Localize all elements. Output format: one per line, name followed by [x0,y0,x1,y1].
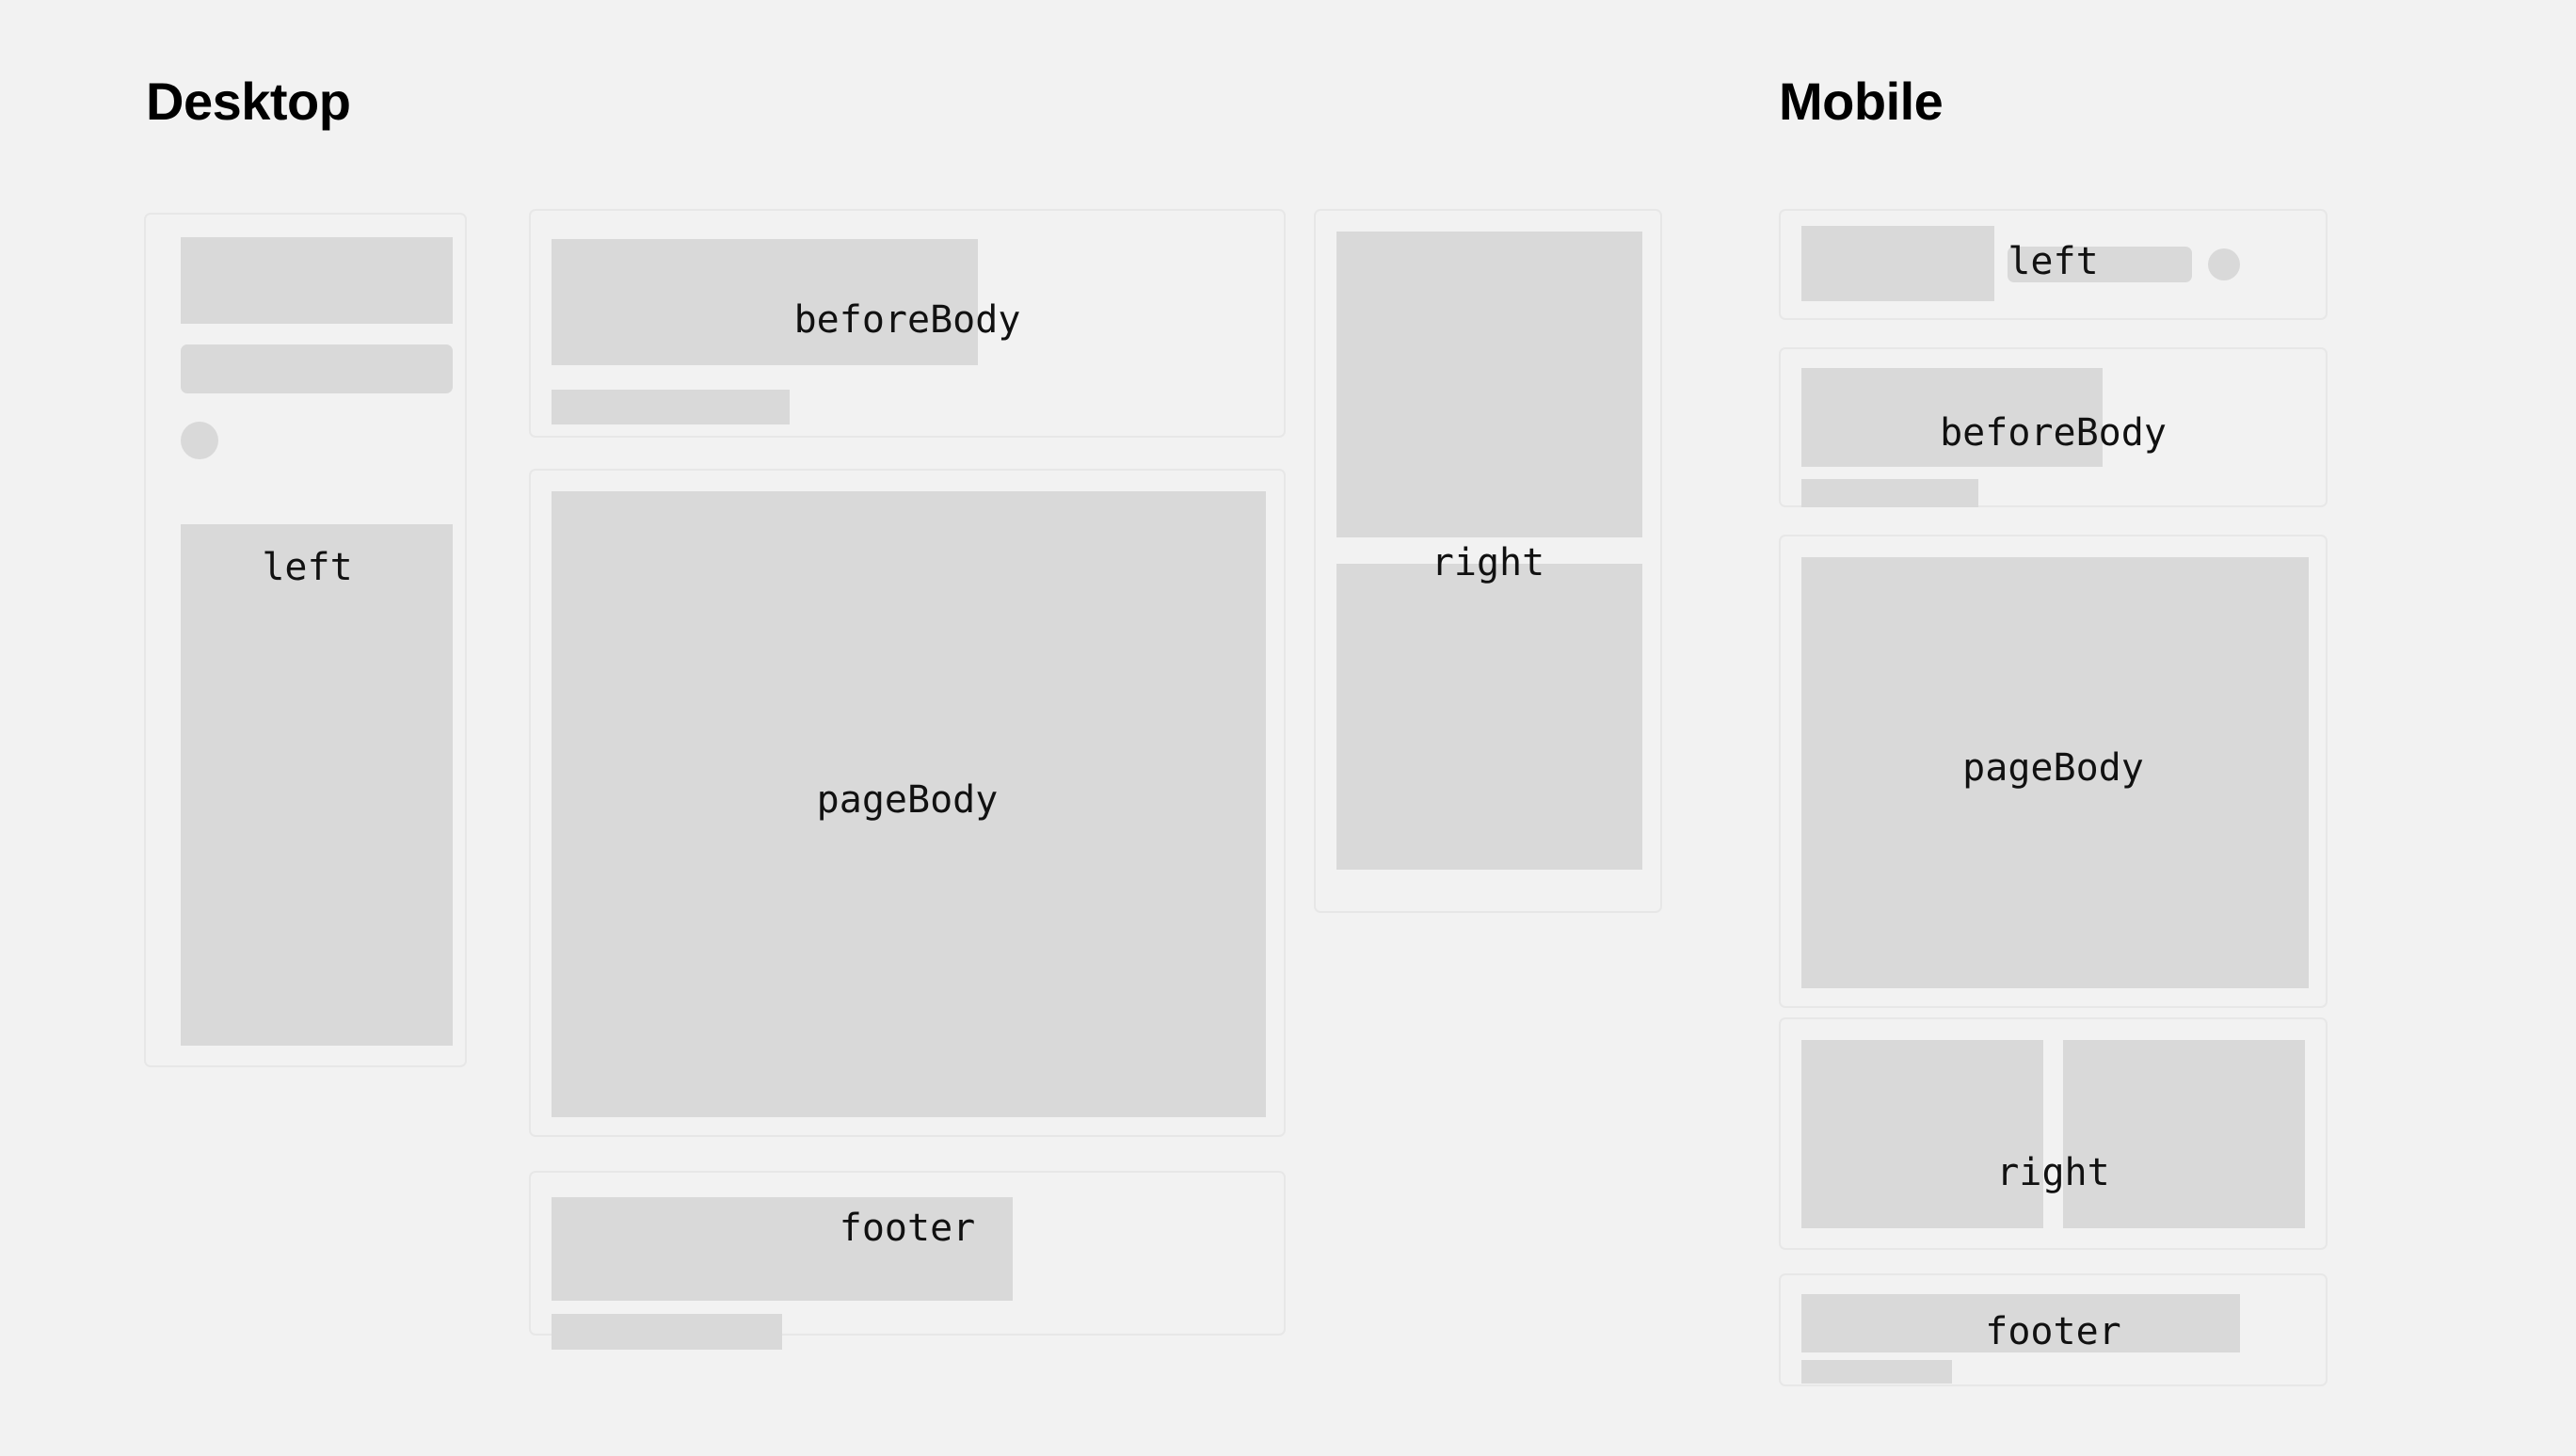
sidebar-block-bar [181,344,453,393]
mobile-right-panel[interactable] [1779,1017,2328,1250]
mobile-left-slot-label: left [1779,243,2328,280]
right-block-bottom [1336,564,1642,870]
sidebar-block-hero [181,237,453,324]
desktop-pagebody-slot-label: pageBody [529,781,1286,819]
desktop-beforebody-slot-label-overlay: beforeBody [529,301,1286,339]
desktop-footer-slot-label: footer [529,1209,1286,1247]
wireframe-canvas: Desktop left beforeBody beforeBody pageB… [0,0,2576,1456]
mobile-right-block-one [1801,1040,2043,1228]
mobile-beforebody-block-small [1801,479,1978,507]
mobile-footer-slot-label: footer [1779,1313,2328,1351]
right-block-top [1336,232,1642,537]
mobile-right-slot-label: right [1779,1154,2328,1192]
desktop-right-slot-label: right [1314,544,1662,582]
desktop-footer-panel[interactable] [529,1171,1286,1336]
mobile-pagebody-slot-label: pageBody [1779,749,2328,787]
footer-block-small [552,1314,782,1350]
sidebar-block-tall [181,524,453,1046]
beforebody-block-small [552,390,790,424]
mobile-section-title: Mobile [1779,75,1943,128]
sidebar-block-dot [181,422,218,459]
desktop-left-panel[interactable]: left [144,213,467,1067]
mobile-footer-block-small [1801,1360,1952,1384]
mobile-right-block-two [2063,1040,2305,1228]
mobile-beforebody-slot-label: beforeBody [1779,414,2328,452]
desktop-section-title: Desktop [146,75,350,128]
desktop-left-slot-label: left [146,549,469,586]
